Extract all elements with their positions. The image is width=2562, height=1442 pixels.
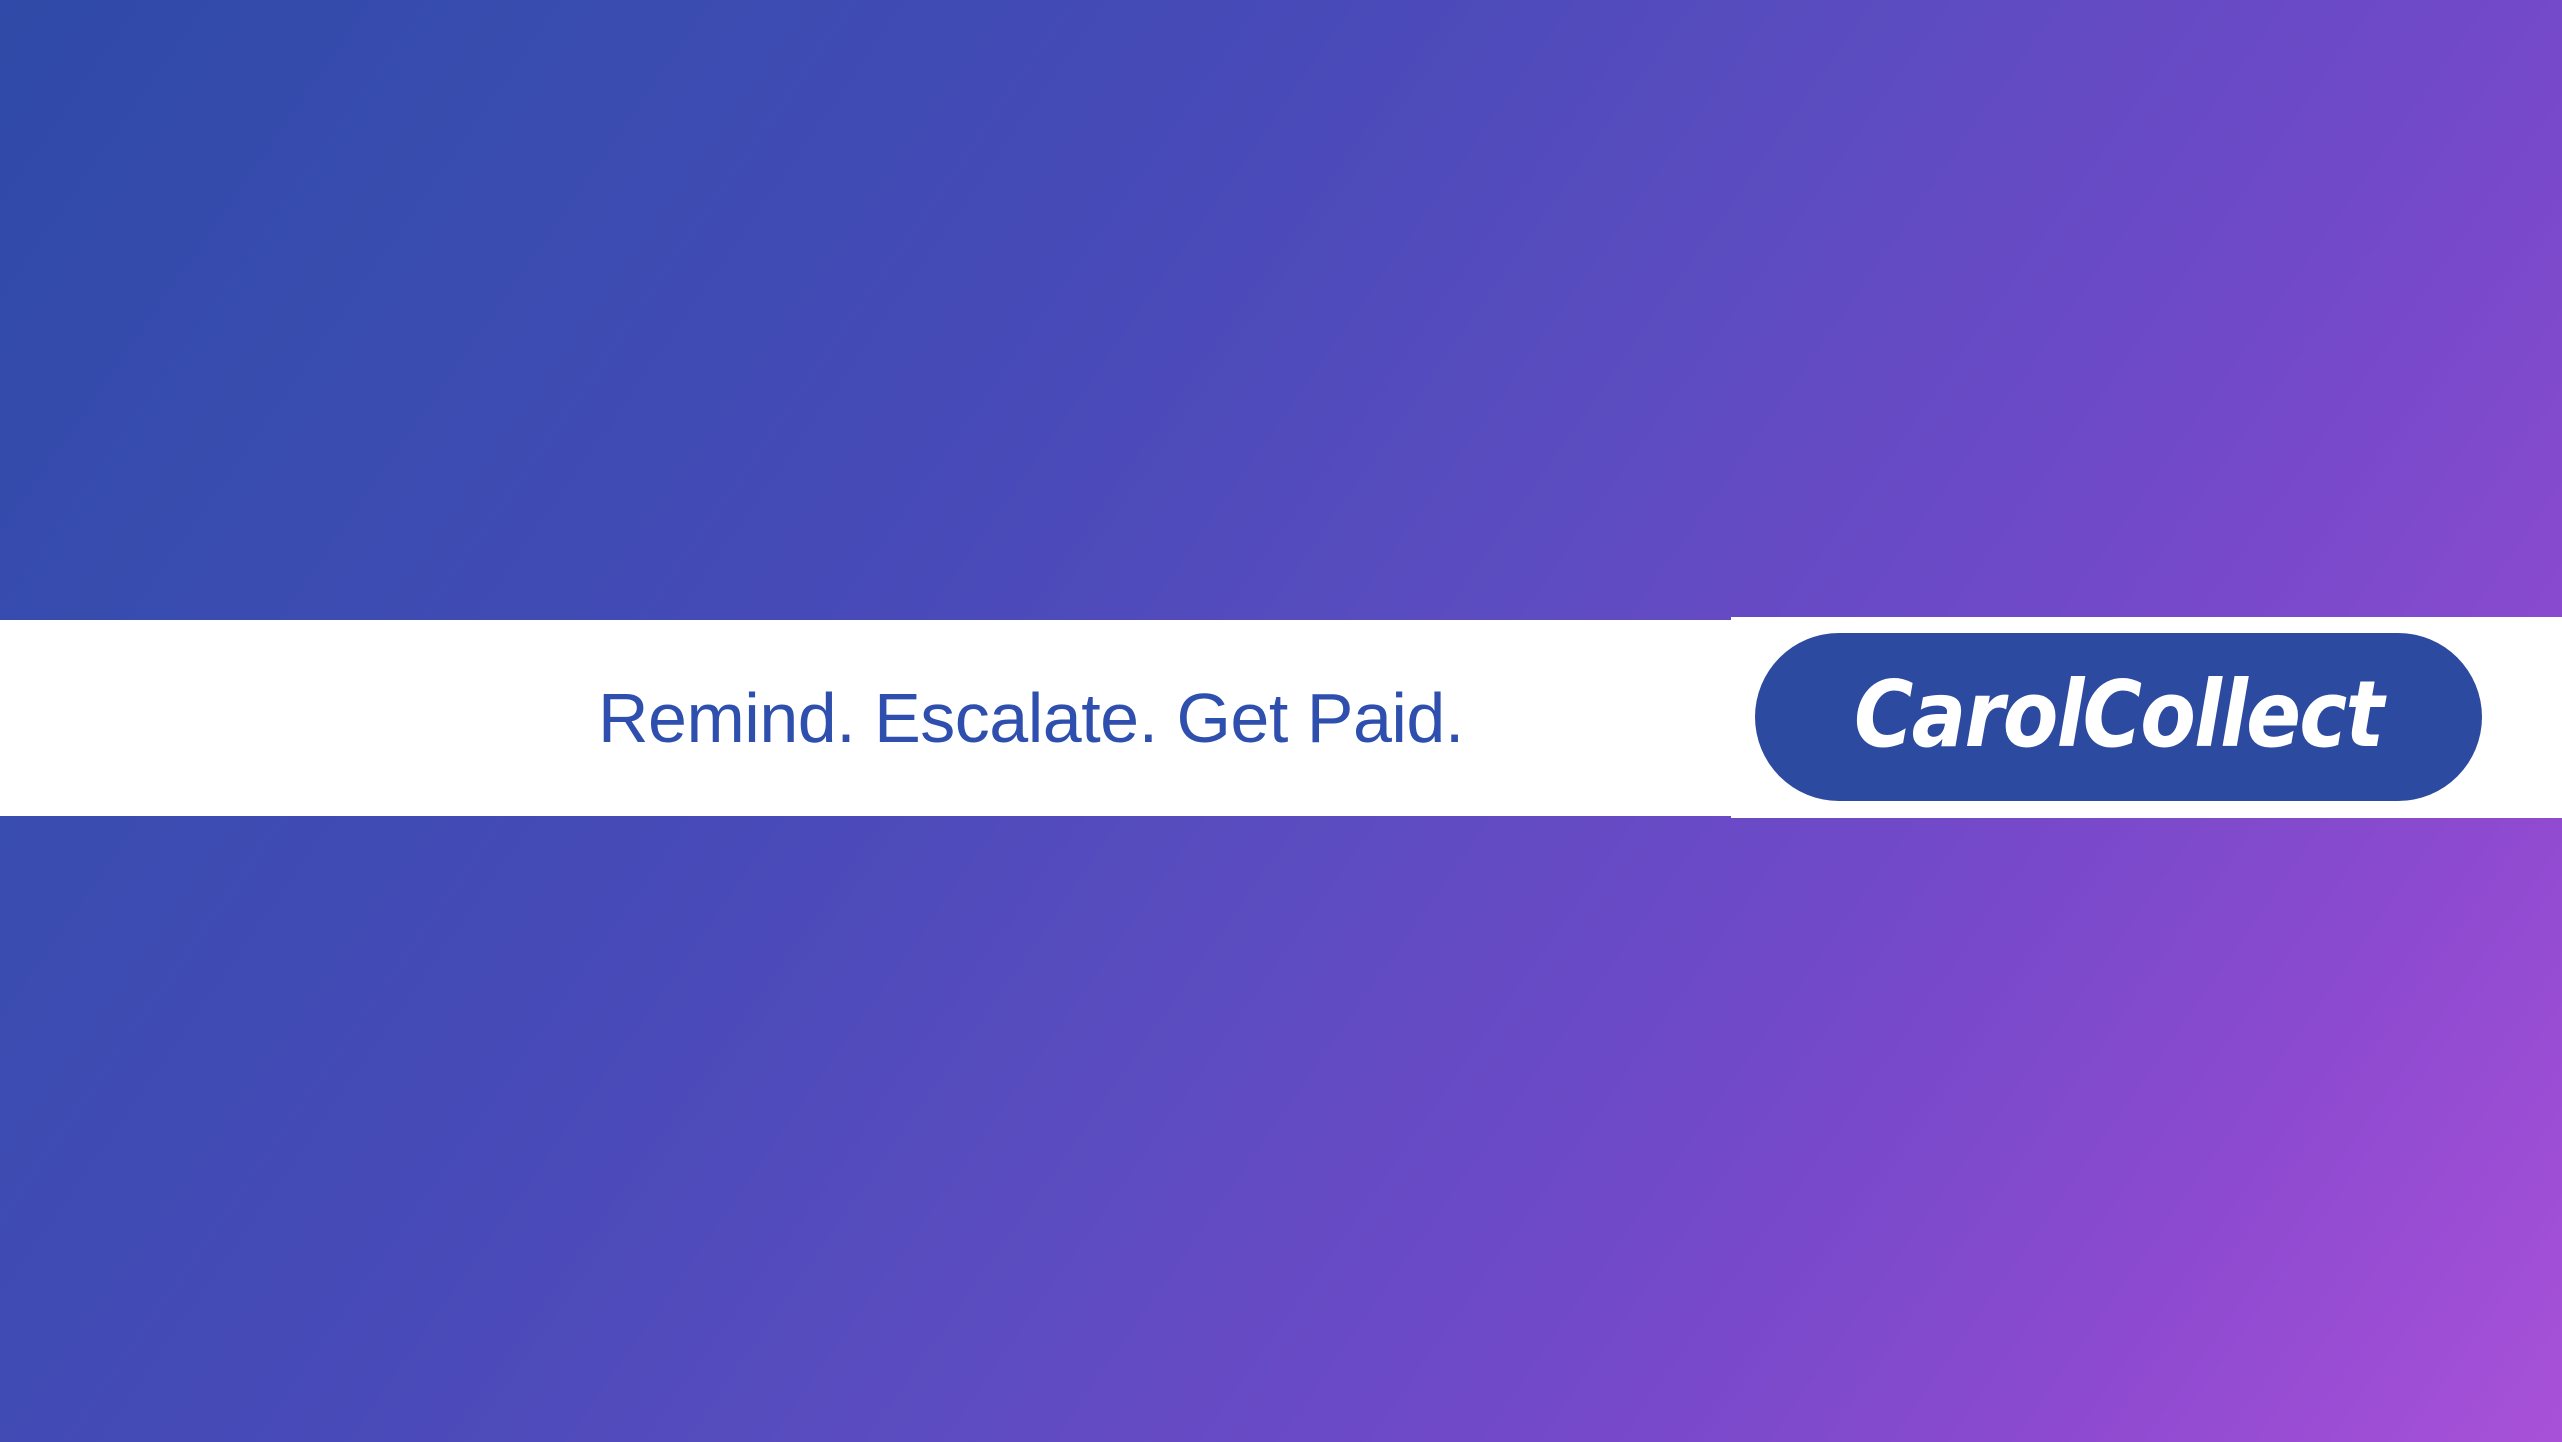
brand-wordmark: CarolCollect (1854, 669, 2382, 761)
brand-logo-pill[interactable]: CarolCollect (1755, 633, 2482, 801)
brand-banner: Remind. Escalate. Get Paid. CarolCollect (0, 0, 2562, 1442)
banner-tagline: Remind. Escalate. Get Paid. (598, 620, 1464, 816)
